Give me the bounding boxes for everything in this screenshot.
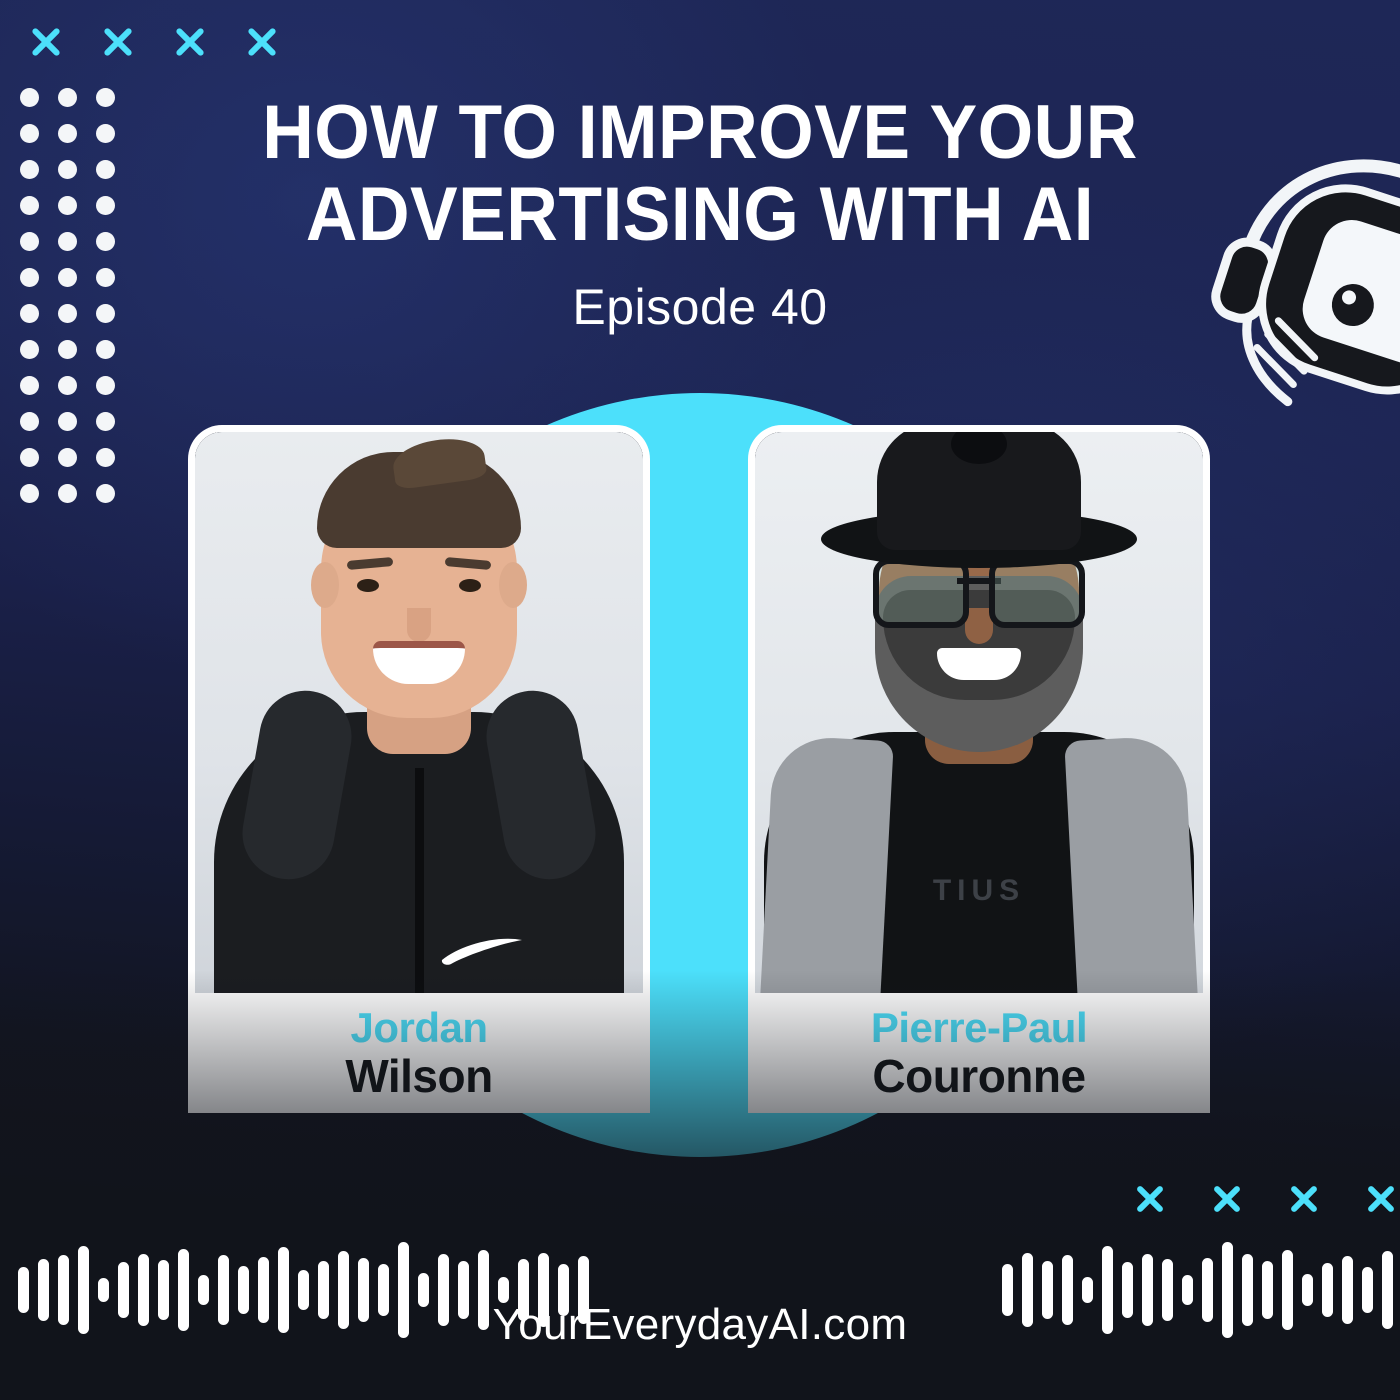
guest-shirt-text: TIUS — [895, 874, 1063, 908]
dot — [96, 376, 115, 395]
dot — [58, 160, 77, 179]
dot — [96, 232, 115, 251]
guest-last-name: Couronne — [872, 1053, 1085, 1099]
x-icon — [1364, 1182, 1398, 1216]
dot — [20, 232, 39, 251]
dot — [20, 196, 39, 215]
page-title: HOW TO IMPROVE YOUR ADVERTISING WITH AI — [155, 92, 1245, 256]
dot — [20, 484, 39, 503]
dot — [96, 412, 115, 431]
dot — [20, 340, 39, 359]
x-icon — [244, 24, 280, 60]
waveform-bar — [98, 1278, 109, 1302]
guest-photo-pierre-paul-couronne: TIUS — [755, 432, 1203, 1000]
title-line-2: ADVERTISING WITH AI — [155, 174, 1245, 256]
x-icon — [172, 24, 208, 60]
dot — [58, 232, 77, 251]
dot — [58, 412, 77, 431]
title-line-1: HOW TO IMPROVE YOUR — [155, 92, 1245, 174]
dot — [20, 412, 39, 431]
dot — [58, 448, 77, 467]
x-marks-bottom-right — [1133, 1182, 1398, 1216]
x-icon — [1287, 1182, 1321, 1216]
guest-first-name: Jordan — [350, 1007, 487, 1049]
guest-last-name: Wilson — [345, 1053, 492, 1099]
dot — [58, 376, 77, 395]
guest-photo-jordan-wilson — [195, 432, 643, 1000]
dot — [20, 88, 39, 107]
dot — [96, 124, 115, 143]
guest-card-pierre-paul-couronne: TIUS Pierre-Paul Couronne — [748, 425, 1210, 1113]
guest-card-jordan-wilson: Jordan Wilson — [188, 425, 650, 1113]
nameplate-jordan-wilson: Jordan Wilson — [195, 993, 643, 1113]
dot — [20, 160, 39, 179]
x-icon — [100, 24, 136, 60]
guest-first-name: Pierre-Paul — [871, 1007, 1087, 1049]
x-icon — [28, 24, 64, 60]
dot — [58, 124, 77, 143]
dot — [58, 196, 77, 215]
x-marks-top-left — [28, 24, 280, 60]
dot — [96, 196, 115, 215]
dot — [20, 124, 39, 143]
dot — [20, 448, 39, 467]
dot — [96, 160, 115, 179]
x-icon — [1210, 1182, 1244, 1216]
dot — [96, 484, 115, 503]
x-icon — [1133, 1182, 1167, 1216]
dot — [96, 88, 115, 107]
nameplate-pierre-paul-couronne: Pierre-Paul Couronne — [755, 993, 1203, 1113]
dot — [58, 88, 77, 107]
podcast-cover-art: HOW TO IMPROVE YOUR ADVERTISING WITH AI … — [0, 0, 1400, 1400]
website-url: YourEverydayAI.com — [0, 1300, 1400, 1350]
dot — [96, 448, 115, 467]
nike-swoosh-logo — [439, 938, 525, 966]
dot — [58, 484, 77, 503]
dot — [96, 340, 115, 359]
dot — [58, 340, 77, 359]
dot — [20, 376, 39, 395]
